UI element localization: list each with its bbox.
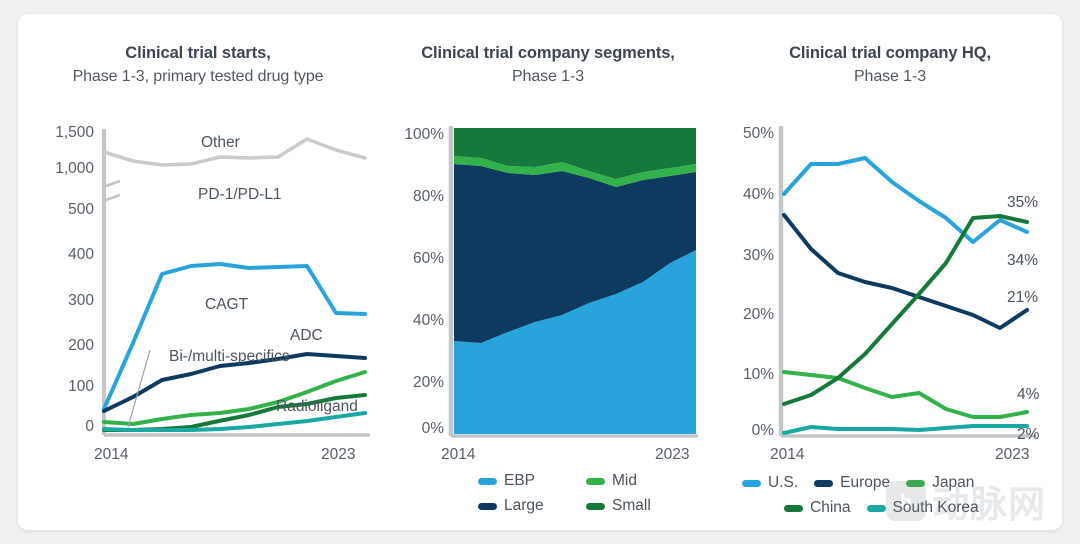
ytick-3-20: 20% — [708, 306, 774, 324]
series-label-cagt: CAGT — [205, 296, 248, 314]
ytick-1-0: 0 — [22, 418, 94, 436]
ytick-2-40: 40% — [378, 312, 444, 330]
legend-swatch-japan — [906, 480, 925, 487]
ytick-1-400: 400 — [22, 246, 94, 264]
series-line-us — [784, 158, 1027, 242]
series-label-bispecifics: Bi-/multi-specifics — [169, 347, 269, 366]
value-label-europe: 21% — [1007, 289, 1038, 307]
legend-swatch-south-korea — [867, 505, 886, 512]
legend-item-small[interactable]: Small — [586, 497, 651, 515]
value-label-japan: 4% — [1017, 386, 1039, 404]
ytick-2-100: 100% — [378, 126, 444, 144]
legend-company-hq: U.S. Europe Japan China South Korea — [742, 474, 1052, 524]
legend-item-china[interactable]: China — [784, 499, 851, 517]
legend-company-segments: EBP Mid Large Small — [478, 472, 708, 522]
series-line-pd1 — [104, 264, 365, 409]
ytick-3-50: 50% — [708, 125, 774, 143]
legend-label-us: U.S. — [768, 474, 798, 492]
xtick-1-end: 2023 — [321, 446, 355, 464]
ytick-1-1000: 1,000 — [22, 160, 94, 178]
legend-label-small: Small — [612, 497, 651, 515]
chart-title-2: Clinical trial company segments, — [378, 44, 718, 63]
legend-item-us[interactable]: U.S. — [742, 474, 798, 492]
chart-panel-clinical-trial-starts: Clinical trial starts, Phase 1-3, primar… — [18, 14, 378, 530]
series-label-other: Other — [201, 134, 240, 152]
legend-swatch-ebp — [478, 478, 497, 485]
ytick-2-60: 60% — [378, 250, 444, 268]
legend-swatch-mid — [586, 478, 605, 485]
ytick-1-200: 200 — [22, 337, 94, 355]
legend-label-mid: Mid — [612, 472, 637, 490]
ytick-3-30: 30% — [708, 247, 774, 265]
ytick-1-1500: 1,500 — [22, 124, 94, 142]
legend-item-europe[interactable]: Europe — [814, 474, 890, 492]
stacked-area-chart-segments — [448, 122, 708, 447]
legend-label-japan: Japan — [932, 474, 974, 492]
legend-label-china: China — [810, 499, 851, 517]
legend-swatch-us — [742, 480, 761, 487]
series-line-south-korea — [784, 426, 1027, 433]
ytick-1-500: 500 — [22, 201, 94, 219]
ytick-3-0: 0% — [708, 422, 774, 440]
value-label-us: 34% — [1007, 252, 1038, 270]
legend-item-south-korea[interactable]: South Korea — [867, 499, 979, 517]
xtick-3-end: 2023 — [995, 446, 1029, 464]
ytick-1-300: 300 — [22, 292, 94, 310]
ytick-3-40: 40% — [708, 186, 774, 204]
chart-subtitle-1: Phase 1-3, primary tested drug type — [18, 68, 378, 86]
chart-title-1: Clinical trial starts, — [18, 44, 378, 63]
ytick-2-20: 20% — [378, 374, 444, 392]
chart-title-3: Clinical trial company HQ, — [718, 44, 1062, 63]
legend-swatch-small — [586, 503, 605, 510]
xtick-1-start: 2014 — [94, 446, 128, 464]
dashboard-card: Clinical trial starts, Phase 1-3, primar… — [18, 14, 1062, 530]
series-label-adc: ADC — [290, 327, 323, 345]
series-line-japan — [784, 372, 1027, 417]
legend-label-south-korea: South Korea — [893, 499, 979, 517]
chart-panel-company-hq: Clinical trial company HQ, Phase 1-3 50%… — [718, 14, 1062, 530]
xtick-2-start: 2014 — [441, 446, 475, 464]
legend-swatch-large — [478, 503, 497, 510]
chart-panel-company-segments: Clinical trial company segments, Phase 1… — [378, 14, 718, 530]
xtick-3-start: 2014 — [770, 446, 804, 464]
chart-subtitle-3: Phase 1-3 — [718, 68, 1062, 86]
legend-item-large[interactable]: Large — [478, 497, 570, 515]
legend-swatch-europe — [814, 480, 833, 487]
chart-subtitle-2: Phase 1-3 — [378, 68, 718, 86]
ytick-3-10: 10% — [708, 366, 774, 384]
legend-item-japan[interactable]: Japan — [906, 474, 974, 492]
series-label-pd1: PD-1/PD-L1 — [198, 186, 282, 204]
xtick-2-end: 2023 — [655, 446, 689, 464]
legend-item-ebp[interactable]: EBP — [478, 472, 570, 490]
legend-label-large: Large — [504, 497, 544, 515]
value-label-china: 35% — [1007, 194, 1038, 212]
value-label-south-korea: 2% — [1017, 426, 1039, 444]
legend-label-europe: Europe — [840, 474, 890, 492]
legend-label-ebp: EBP — [504, 472, 535, 490]
ytick-1-100: 100 — [22, 378, 94, 396]
ytick-2-0: 0% — [378, 420, 444, 438]
legend-swatch-china — [784, 505, 803, 512]
series-label-radioligand: Radioligand — [276, 398, 358, 416]
ytick-2-80: 80% — [378, 188, 444, 206]
legend-item-mid[interactable]: Mid — [586, 472, 637, 490]
